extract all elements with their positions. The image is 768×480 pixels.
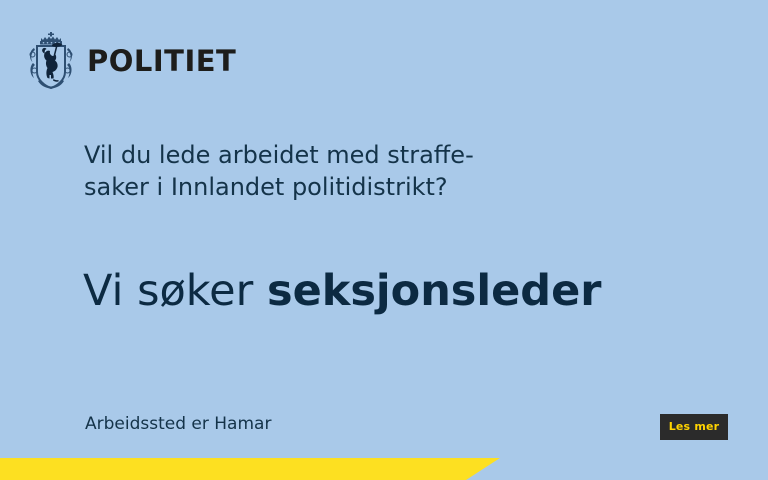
headline-job-title: seksjonsleder — [267, 266, 602, 316]
politiet-logo[interactable]: POLITIET — [26, 31, 236, 90]
work-location: Arbeidssted er Hamar — [85, 413, 271, 435]
intro-question: Vil du lede arbeidet med straffe- saker … — [84, 139, 554, 203]
headline: Vi søker seksjonsleder — [83, 266, 601, 316]
politiet-recruitment-banner: POLITIET Vil du lede arbeidet med straff… — [0, 0, 768, 480]
norwegian-coat-of-arms-icon — [26, 31, 76, 90]
intro-question-line-2: saker i Innlandet politidistrikt? — [84, 171, 554, 203]
read-more-button[interactable]: Les mer — [660, 414, 728, 440]
politiet-wordmark: POLITIET — [87, 47, 236, 76]
yellow-footer-band — [0, 458, 500, 480]
headline-lead: Vi søker — [83, 266, 267, 316]
intro-question-line-1: Vil du lede arbeidet med straffe- — [84, 139, 554, 171]
